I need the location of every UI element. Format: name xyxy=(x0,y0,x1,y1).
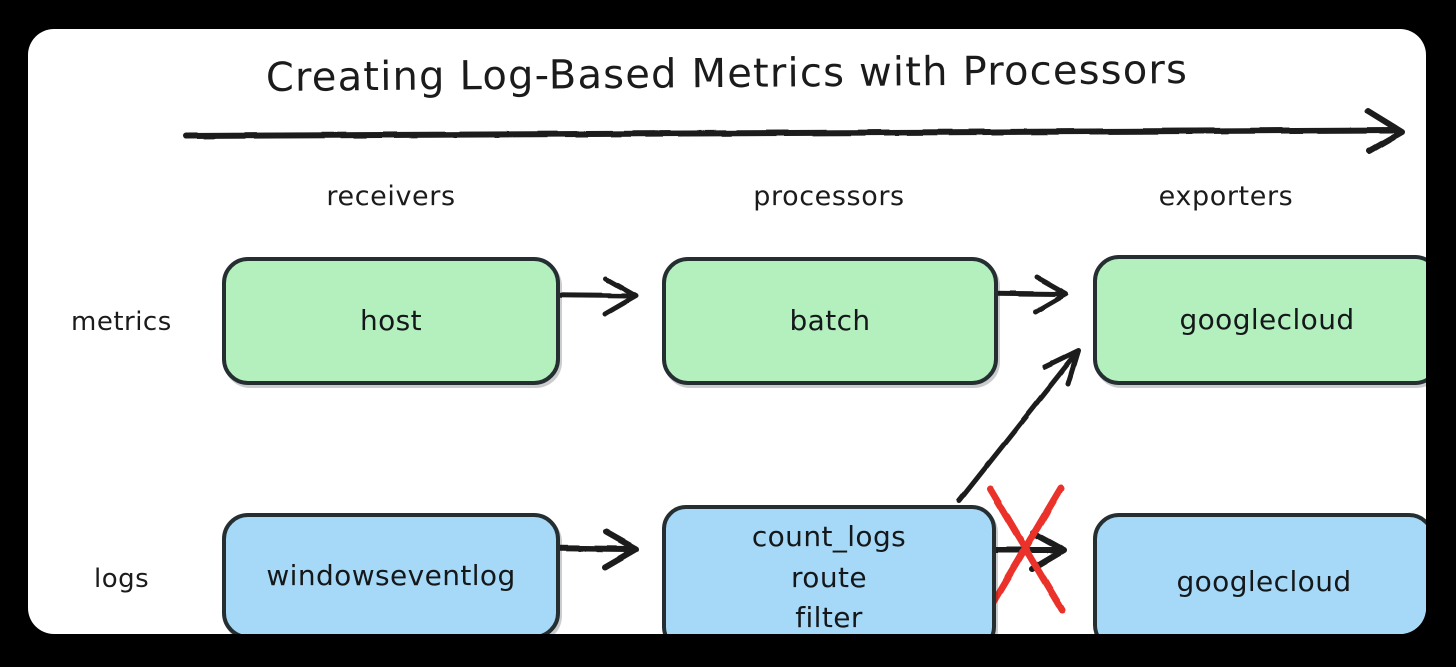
node-label-group: count_logs route filter xyxy=(744,517,914,634)
node-label-count-logs: count_logs xyxy=(752,517,906,558)
node-metrics-receiver-host[interactable]: host xyxy=(222,257,560,385)
column-header-exporters: exporters xyxy=(1058,181,1394,212)
node-logs-processors[interactable]: count_logs route filter xyxy=(662,505,996,634)
node-label: batch xyxy=(789,301,870,342)
node-label: host xyxy=(360,301,422,342)
node-metrics-processor-batch[interactable]: batch xyxy=(662,257,998,385)
whiteboard-panel: Creating Log-Based Metrics with Processo… xyxy=(28,29,1426,634)
row-label-logs: logs xyxy=(94,564,149,594)
node-metrics-exporter-googlecloud[interactable]: googlecloud xyxy=(1093,255,1426,385)
disabled-edge-cross-icon xyxy=(989,488,1062,610)
flow-direction-arrow xyxy=(186,111,1402,151)
edge-logs-processor-to-logs-exporter xyxy=(991,533,1064,569)
node-label-route: route xyxy=(752,558,906,599)
node-logs-exporter-googlecloud[interactable]: googlecloud xyxy=(1093,513,1426,634)
page-title: Creating Log-Based Metrics with Processo… xyxy=(28,45,1426,103)
node-label: windowseventlog xyxy=(266,556,515,597)
node-label: googlecloud xyxy=(1179,300,1354,341)
column-header-receivers: receivers xyxy=(223,181,559,212)
node-label: googlecloud xyxy=(1176,562,1351,603)
node-logs-receiver-windowseventlog[interactable]: windowseventlog xyxy=(222,513,560,634)
node-label-filter: filter xyxy=(752,598,906,634)
row-label-metrics: metrics xyxy=(71,307,172,337)
column-header-processors: processors xyxy=(662,181,996,212)
diagram-canvas: Creating Log-Based Metrics with Processo… xyxy=(0,0,1456,667)
